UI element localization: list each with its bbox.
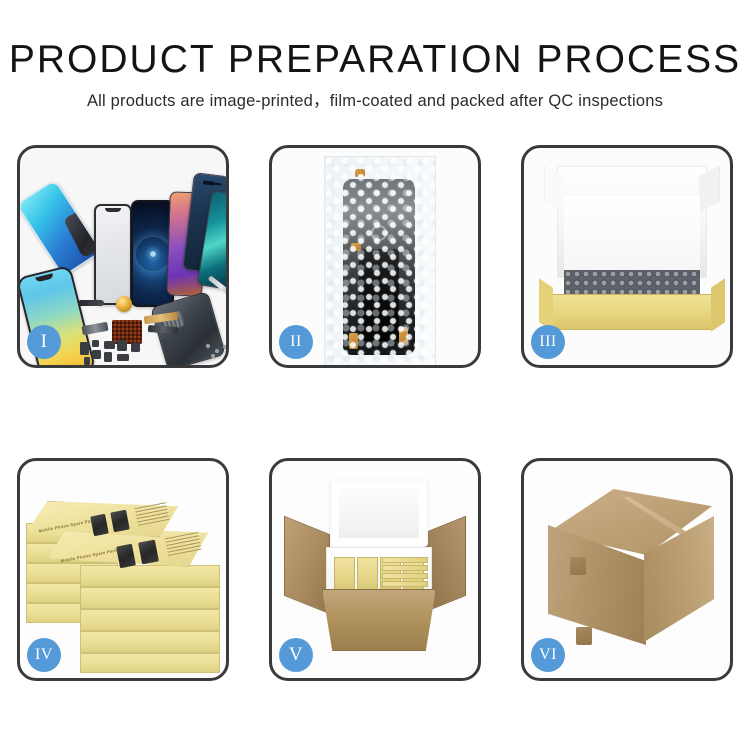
battery-connector-part <box>78 300 104 306</box>
carton-tab-lower <box>576 627 592 645</box>
step-badge-1: I <box>27 325 61 359</box>
bubble-texture-front <box>325 157 435 365</box>
step-badge-2: II <box>279 325 313 359</box>
page-title: PRODUCT PREPARATION PROCESS <box>0 38 750 82</box>
foam-box-lid <box>330 479 428 547</box>
stacked-box-front <box>80 565 220 587</box>
step-panel-5: V <box>269 458 481 681</box>
small-components-cluster <box>80 340 144 365</box>
step-panel-4: Mobile Phone Spare Parts Mobile Phone Sp… <box>17 458 229 681</box>
carton-tab-upper <box>570 557 586 575</box>
step-panel-6: VI <box>521 458 733 681</box>
carton-flap-left <box>284 516 330 615</box>
step-panel-2: II <box>269 145 481 368</box>
step-panel-1: I <box>17 145 229 368</box>
process-step-grid: I II <box>17 145 733 681</box>
phone-screen-cyan <box>20 179 102 276</box>
header: PRODUCT PREPARATION PROCESS All products… <box>0 0 750 111</box>
step-badge-6: VI <box>531 638 565 672</box>
bubble-wrap-bag <box>324 156 436 365</box>
step-badge-4: IV <box>27 638 61 672</box>
camera-module-part <box>81 322 108 335</box>
step-panel-3: III <box>521 145 733 368</box>
stacked-box-front <box>80 587 220 609</box>
screws-group <box>206 344 226 358</box>
flex-cable-dark-part <box>148 325 178 334</box>
step-badge-3: III <box>531 325 565 359</box>
speaker-module-part <box>116 296 132 312</box>
carton-body <box>322 589 436 651</box>
product-preparation-infographic: PRODUCT PREPARATION PROCESS All products… <box>0 0 750 750</box>
step-badge-5: V <box>279 638 313 672</box>
stacked-box-front <box>80 631 220 653</box>
foam-sheet <box>564 196 700 274</box>
bubble-wrap-layer <box>564 270 700 296</box>
page-subtitle: All products are image-printed，film-coat… <box>0 91 750 111</box>
phone-glass-panel <box>94 204 132 305</box>
kraft-box-tray <box>550 294 714 330</box>
stacked-box-front <box>80 609 220 631</box>
stacked-box-front <box>80 653 220 673</box>
